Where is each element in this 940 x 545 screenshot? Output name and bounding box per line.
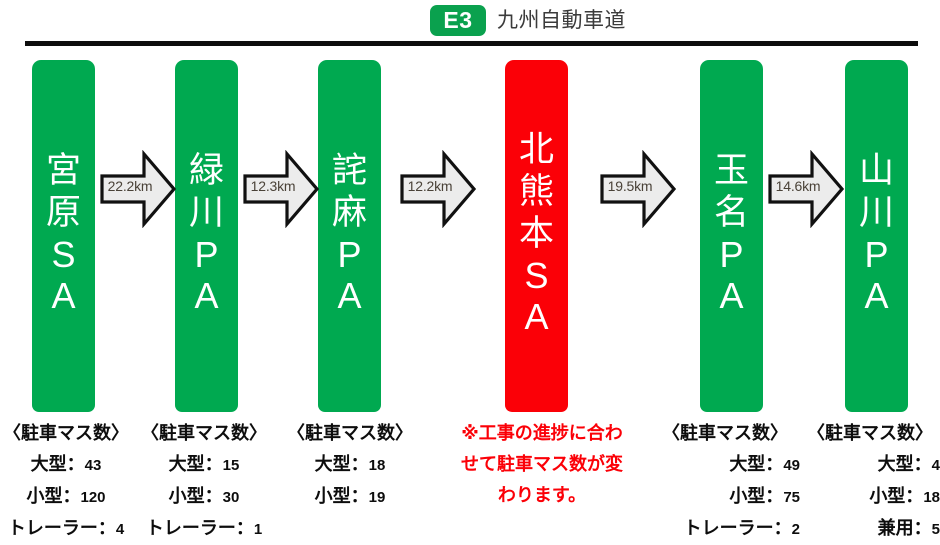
facility-name-char: 麻	[332, 192, 367, 234]
facility-name-latin-char: P	[864, 234, 888, 275]
header-divider-rule	[25, 41, 918, 46]
facility-name-latin-char: A	[194, 275, 218, 316]
parking-capacity-block-3: 〈駐車マス数〉大型：18小型：19	[275, 418, 425, 513]
facility-name-char: 玉	[714, 150, 749, 192]
segment-arrow-2: 12.3km	[243, 150, 319, 228]
segment-arrow-5: 14.6km	[768, 150, 844, 228]
parking-capacity-title: 〈駐車マス数〉	[650, 418, 800, 449]
infographic-root: E3 九州自動車道 宮原SA〈駐車マス数〉大型：43小型：120トレーラー：4緑…	[0, 0, 940, 543]
parking-capacity-row: トレーラー：4	[0, 513, 132, 545]
parking-capacity-row: 小型：19	[275, 481, 425, 513]
facility-bar-1[interactable]: 宮原SA	[32, 60, 95, 412]
segment-arrow-4: 19.5km	[600, 150, 676, 228]
facility-name-3: 詫麻PA	[332, 150, 367, 316]
parking-capacity-label: 小型：	[315, 486, 369, 506]
parking-capacity-title: 〈駐車マス数〉	[134, 418, 274, 449]
parking-capacity-value: 18	[923, 489, 940, 506]
parking-capacity-title: 〈駐車マス数〉	[275, 418, 425, 449]
parking-capacity-block-1: 〈駐車マス数〉大型：43小型：120トレーラー：4	[0, 418, 132, 545]
parking-capacity-value: 18	[369, 457, 386, 474]
facility-name-char: 原	[46, 192, 81, 234]
route-name-label: 九州自動車道	[497, 7, 626, 35]
facility-name-char: 北	[519, 129, 554, 171]
parking-capacity-title: 〈駐車マス数〉	[800, 418, 940, 449]
facility-name-6: 山川PA	[859, 150, 894, 316]
facility-name-char: 本	[519, 213, 554, 255]
parking-capacity-label: 小型：	[169, 486, 223, 506]
facility-name-4: 北熊本SA	[519, 129, 554, 337]
parking-capacity-row: 小型：30	[134, 481, 274, 513]
facility-name-latin-char: A	[524, 296, 548, 337]
parking-capacity-block-2: 〈駐車マス数〉大型：15小型：30トレーラー：1	[134, 418, 274, 545]
facility-bar-3[interactable]: 詫麻PA	[318, 60, 381, 412]
construction-notice-line: ※工事の進捗に合わ	[452, 418, 632, 449]
facility-name-latin-char: S	[524, 255, 548, 296]
parking-capacity-row: 小型：75	[650, 481, 800, 513]
facility-name-latin-char: S	[51, 234, 75, 275]
parking-capacity-row: 小型：120	[0, 481, 132, 513]
parking-capacity-row: 大型：15	[134, 449, 274, 481]
segment-arrow-1: 22.2km	[100, 150, 176, 228]
parking-capacity-title: 〈駐車マス数〉	[0, 418, 132, 449]
facility-name-latin-char: A	[51, 275, 75, 316]
parking-capacity-block-5: 〈駐車マス数〉大型：49小型：75トレーラー：2	[650, 418, 800, 545]
construction-notice-line: わります。	[452, 480, 632, 511]
segment-distance-label: 12.2km	[400, 178, 460, 194]
facility-name-1: 宮原SA	[46, 150, 81, 316]
segment-distance-label: 14.6km	[768, 178, 828, 194]
parking-capacity-value: 49	[783, 457, 800, 474]
facility-name-latin-char: A	[864, 275, 888, 316]
segment-arrow-3: 12.2km	[400, 150, 476, 228]
parking-capacity-label: 小型：	[26, 486, 80, 506]
segment-distance-label: 22.2km	[100, 178, 160, 194]
parking-capacity-label: トレーラー：	[8, 518, 116, 538]
parking-capacity-value: 1	[254, 521, 262, 538]
facility-name-char: 詫	[332, 150, 367, 192]
facility-name-latin-char: P	[337, 234, 361, 275]
facility-bar-2[interactable]: 緑川PA	[175, 60, 238, 412]
facility-name-char: 山	[859, 150, 894, 192]
parking-capacity-label: トレーラー：	[146, 518, 254, 538]
parking-capacity-value: 5	[932, 521, 940, 538]
parking-capacity-label: 小型：	[869, 486, 923, 506]
parking-capacity-row: 小型：18	[800, 481, 940, 513]
parking-capacity-row: トレーラー：2	[650, 513, 800, 545]
facility-bar-4[interactable]: 北熊本SA	[505, 60, 568, 412]
parking-capacity-row: 大型：18	[275, 449, 425, 481]
segment-distance-label: 19.5km	[600, 178, 660, 194]
parking-capacity-label: 小型：	[729, 486, 783, 506]
facility-name-latin-char: A	[719, 275, 743, 316]
parking-capacity-row: 兼用：5	[800, 513, 940, 545]
parking-capacity-row: 大型：43	[0, 449, 132, 481]
facility-bar-5[interactable]: 玉名PA	[700, 60, 763, 412]
parking-capacity-value: 43	[85, 457, 102, 474]
facility-bar-6[interactable]: 山川PA	[845, 60, 908, 412]
segment-distance-label: 12.3km	[243, 178, 303, 194]
facility-name-char: 川	[189, 192, 224, 234]
parking-capacity-row: 大型：49	[650, 449, 800, 481]
facility-name-latin-char: P	[194, 234, 218, 275]
parking-capacity-label: 大型：	[315, 454, 369, 474]
route-header: E3 九州自動車道	[0, 0, 940, 44]
facility-name-char: 川	[859, 192, 894, 234]
facility-name-char: 宮	[46, 150, 81, 192]
construction-notice-line: せて駐車マス数が変	[452, 449, 632, 480]
parking-capacity-value: 120	[80, 489, 105, 506]
parking-capacity-value: 30	[223, 489, 240, 506]
parking-capacity-value: 4	[932, 457, 940, 474]
construction-notice: ※工事の進捗に合わせて駐車マス数が変わります。	[452, 418, 632, 511]
parking-capacity-value: 75	[783, 489, 800, 506]
parking-capacity-value: 4	[116, 521, 124, 538]
facility-name-latin-char: P	[719, 234, 743, 275]
facility-name-char: 名	[714, 192, 749, 234]
parking-capacity-label: 兼用：	[878, 518, 932, 538]
facility-name-2: 緑川PA	[189, 150, 224, 316]
facility-name-latin-char: A	[337, 275, 361, 316]
parking-capacity-label: 大型：	[169, 454, 223, 474]
parking-capacity-label: 大型：	[31, 454, 85, 474]
parking-capacity-value: 15	[223, 457, 240, 474]
parking-capacity-row: トレーラー：1	[134, 513, 274, 545]
parking-capacity-label: 大型：	[729, 454, 783, 474]
facility-name-5: 玉名PA	[714, 150, 749, 316]
parking-capacity-label: トレーラー：	[684, 518, 792, 538]
facility-name-char: 緑	[189, 150, 224, 192]
parking-capacity-value: 2	[792, 521, 800, 538]
parking-capacity-label: 大型：	[878, 454, 932, 474]
parking-capacity-block-6: 〈駐車マス数〉大型：4小型：18兼用：5	[800, 418, 940, 545]
facility-name-char: 熊	[519, 171, 554, 213]
parking-capacity-row: 大型：4	[800, 449, 940, 481]
route-badge-e3: E3	[430, 5, 486, 36]
parking-capacity-value: 19	[369, 489, 386, 506]
